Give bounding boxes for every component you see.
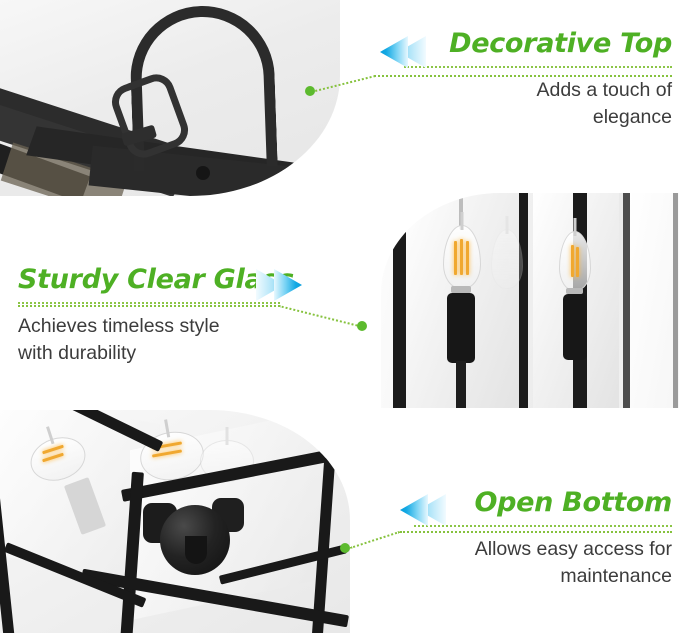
bulb-1-socket <box>447 293 475 363</box>
marker-dot-sturdy-clear-glass <box>357 321 367 331</box>
divider-decorative-top <box>404 66 672 68</box>
marker-dot-decorative-top <box>305 86 315 96</box>
frame-post-far-right <box>673 193 678 408</box>
body-decorative-top: Adds a touch of elegance <box>404 77 672 131</box>
frame-post-left <box>393 193 406 408</box>
callout-open-bottom: Open Bottom Allows easy access for maint… <box>414 489 672 590</box>
frame-post-mid <box>519 193 528 408</box>
callout-decorative-top: Decorative Top Adds a touch of elegance <box>404 30 672 131</box>
marker-dot-open-bottom <box>340 543 350 553</box>
bulb-1-filament-a <box>454 241 457 275</box>
arrow-left-open-bottom <box>388 493 446 527</box>
headline-decorative-top: Decorative Top <box>404 30 672 57</box>
glass-pane-3 <box>629 193 679 408</box>
bulb-1-filament-c <box>466 241 469 275</box>
bulb-1-collar <box>451 286 471 293</box>
arrow-left-decorative-top <box>368 35 426 69</box>
leader-line-sturdy-clear-glass-2 <box>279 305 361 327</box>
bulb-2-filament-a <box>571 245 574 277</box>
leader-line-sturdy-clear-glass <box>18 305 280 307</box>
bulb-2-socket <box>563 294 587 360</box>
leader-line-open-bottom <box>350 531 400 549</box>
finial-tip <box>185 536 207 564</box>
leader-line-decorative-top-2 <box>374 75 672 77</box>
product-photo-clear-glass <box>381 193 679 408</box>
frame-post-right <box>623 193 630 408</box>
divider-sturdy-clear-glass <box>18 302 280 304</box>
bulb-1-filament-b <box>460 239 463 275</box>
leader-line-open-bottom-2 <box>400 531 672 533</box>
bulb-1-downrod <box>456 361 466 408</box>
roof-screw <box>196 166 210 180</box>
body-open-bottom: Allows easy access for maintenance <box>414 536 672 590</box>
infographic-canvas: Decorative Top Adds a touch of elegance … <box>0 0 679 633</box>
arrow-right-sturdy-clear-glass <box>256 268 314 302</box>
product-photo-decorative-top <box>0 0 340 196</box>
headline-sturdy-clear-glass: Sturdy Clear Glass <box>18 266 280 293</box>
headline-open-bottom: Open Bottom <box>414 489 672 516</box>
divider-open-bottom <box>414 525 672 527</box>
body-sturdy-clear-glass: Achieves timeless style with durability <box>18 313 280 367</box>
bulb-2-filament-b <box>576 247 579 277</box>
callout-sturdy-clear-glass: Sturdy Clear Glass Achieves timeless sty… <box>18 266 280 367</box>
